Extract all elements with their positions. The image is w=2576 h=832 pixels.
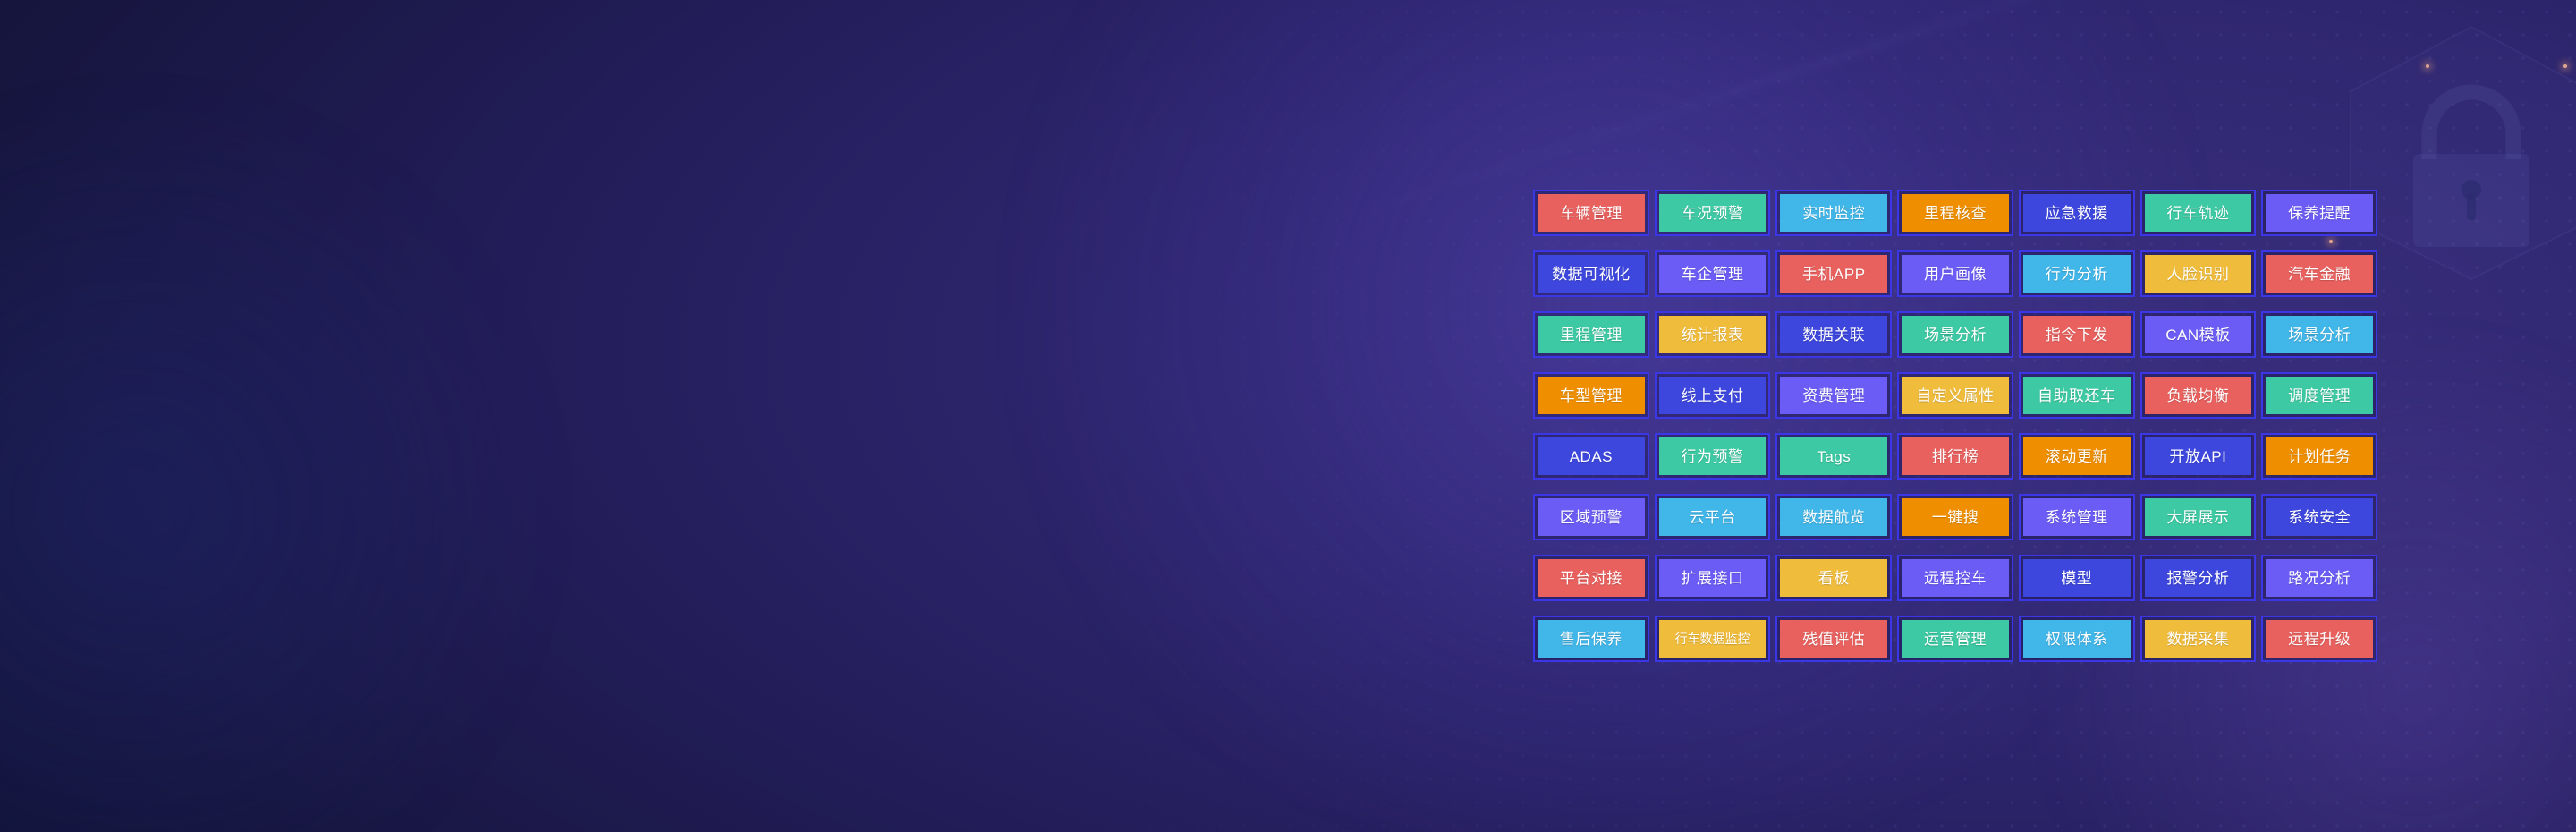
- tile-label: 运营管理: [1924, 632, 1987, 647]
- tile-fill: 运营管理: [1902, 620, 2009, 658]
- feature-tile[interactable]: 车况预警: [1655, 190, 1771, 236]
- tile-fill: 看板: [1780, 559, 1887, 597]
- feature-tile[interactable]: 平台对接: [1533, 555, 1649, 601]
- tile-label: 行车数据监控: [1675, 632, 1750, 645]
- stage: 车辆管理车况预警实时监控里程核查应急救援行车轨迹保养提醒数据可视化车企管理手机A…: [0, 0, 2576, 832]
- feature-tile[interactable]: 行为预警: [1655, 433, 1771, 480]
- tile-label: 车况预警: [1682, 206, 1744, 221]
- feature-tile[interactable]: 售后保养: [1533, 616, 1649, 662]
- tile-label: 云平台: [1689, 510, 1736, 525]
- feature-tile[interactable]: 滚动更新: [2019, 433, 2135, 480]
- tile-label: 远程升级: [2288, 632, 2351, 647]
- tile-fill: 实时监控: [1780, 194, 1887, 232]
- feature-tile[interactable]: 计划任务: [2261, 433, 2377, 480]
- feature-tile[interactable]: Tags: [1775, 433, 1892, 480]
- feature-tile[interactable]: 实时监控: [1775, 190, 1892, 236]
- feature-tile[interactable]: 开放API: [2140, 433, 2257, 480]
- tile-fill: ADAS: [1538, 437, 1645, 475]
- tile-label: CAN模板: [2165, 327, 2230, 343]
- tile-fill: 区域预警: [1538, 498, 1645, 536]
- tile-fill: 售后保养: [1538, 620, 1645, 658]
- tile-fill: 行为预警: [1659, 437, 1767, 475]
- feature-tile[interactable]: 调度管理: [2261, 372, 2377, 419]
- feature-tile[interactable]: 资费管理: [1775, 372, 1892, 419]
- tile-fill: 计划任务: [2266, 437, 2373, 475]
- tile-label: 手机APP: [1802, 267, 1866, 282]
- feature-tile[interactable]: 路况分析: [2261, 555, 2377, 601]
- tile-label: 应急救援: [2046, 206, 2108, 221]
- tile-fill: CAN模板: [2145, 316, 2252, 353]
- feature-tile[interactable]: 数据可视化: [1533, 250, 1649, 297]
- feature-tile[interactable]: 保养提醒: [2261, 190, 2377, 236]
- tile-fill: 用户画像: [1902, 255, 2009, 293]
- tile-fill: 人脸识别: [2145, 255, 2252, 293]
- tile-label: 系统管理: [2046, 510, 2108, 525]
- feature-tile[interactable]: 运营管理: [1897, 616, 2013, 662]
- feature-tile[interactable]: 行车数据监控: [1655, 616, 1771, 662]
- tile-label: ADAS: [1570, 449, 1613, 464]
- tile-fill: 车企管理: [1659, 255, 1767, 293]
- tile-fill: 数据关联: [1780, 316, 1887, 353]
- tile-fill: 系统安全: [2266, 498, 2373, 536]
- feature-tile[interactable]: 车辆管理: [1533, 190, 1649, 236]
- tile-label: 数据可视化: [1552, 267, 1631, 282]
- tile-fill: 报警分析: [2145, 559, 2252, 597]
- tile-label: 负载均衡: [2166, 388, 2229, 403]
- tile-fill: 车辆管理: [1538, 194, 1645, 232]
- tile-label: 场景分析: [2288, 327, 2351, 343]
- feature-tile[interactable]: 自定义属性: [1897, 372, 2013, 419]
- tile-fill: 一键搜: [1902, 498, 2009, 536]
- tile-label: 平台对接: [1560, 571, 1623, 586]
- tile-label: 路况分析: [2288, 571, 2351, 586]
- tile-fill: 系统管理: [2023, 498, 2131, 536]
- tile-fill: 资费管理: [1780, 377, 1887, 414]
- feature-tile[interactable]: 报警分析: [2140, 555, 2257, 601]
- tile-fill: 远程升级: [2266, 620, 2373, 658]
- tile-label: 系统安全: [2288, 510, 2351, 525]
- tile-fill: 排行榜: [1902, 437, 2009, 475]
- feature-tile[interactable]: 远程升级: [2261, 616, 2377, 662]
- feature-tile[interactable]: 大屏展示: [2140, 494, 2257, 540]
- feature-tile[interactable]: 系统安全: [2261, 494, 2377, 540]
- tile-label: 区域预警: [1560, 510, 1623, 525]
- tile-label: 汽车金融: [2288, 267, 2351, 282]
- tile-label: 行为预警: [1682, 449, 1744, 464]
- tile-label: 车辆管理: [1560, 206, 1623, 221]
- tile-label: 权限体系: [2046, 632, 2108, 647]
- feature-tile[interactable]: 车企管理: [1655, 250, 1771, 297]
- feature-tile[interactable]: 汽车金融: [2261, 250, 2377, 297]
- tile-label: 自助取还车: [2038, 388, 2116, 403]
- tile-fill: 权限体系: [2023, 620, 2131, 658]
- tile-label: 模型: [2061, 571, 2092, 586]
- tile-label: 看板: [1818, 571, 1850, 586]
- feature-tile[interactable]: 场景分析: [1897, 311, 2013, 358]
- tile-fill: 自定义属性: [1902, 377, 2009, 414]
- feature-tile[interactable]: 指令下发: [2019, 311, 2135, 358]
- feature-tile[interactable]: 统计报表: [1655, 311, 1771, 358]
- feature-tile[interactable]: 应急救援: [2019, 190, 2135, 236]
- feature-tile[interactable]: ADAS: [1533, 433, 1649, 480]
- feature-tile[interactable]: 云平台: [1655, 494, 1771, 540]
- feature-tile[interactable]: 里程管理: [1533, 311, 1649, 358]
- tile-label: 残值评估: [1802, 632, 1865, 647]
- tile-fill: 保养提醒: [2266, 194, 2373, 232]
- tile-label: 开放API: [2169, 449, 2226, 464]
- tile-label: 统计报表: [1682, 327, 1744, 343]
- tile-fill: 线上支付: [1659, 377, 1767, 414]
- tile-fill: 云平台: [1659, 498, 1767, 536]
- feature-tile[interactable]: 负载均衡: [2140, 372, 2257, 419]
- tile-label: 里程管理: [1560, 327, 1623, 343]
- tile-fill: 行车轨迹: [2145, 194, 2252, 232]
- tile-label: 场景分析: [1924, 327, 1987, 343]
- tile-label: 车型管理: [1560, 388, 1623, 403]
- tile-fill: 里程管理: [1538, 316, 1645, 353]
- tile-label: 计划任务: [2288, 449, 2351, 464]
- tile-label: 指令下发: [2046, 327, 2108, 343]
- tile-label: 车企管理: [1682, 267, 1744, 282]
- tile-label: Tags: [1817, 449, 1851, 464]
- feature-tile[interactable]: 排行榜: [1897, 433, 2013, 480]
- feature-tile[interactable]: 系统管理: [2019, 494, 2135, 540]
- feature-tile[interactable]: 自助取还车: [2019, 372, 2135, 419]
- tile-label: 人脸识别: [2166, 267, 2229, 282]
- tile-label: 保养提醒: [2288, 206, 2351, 221]
- feature-tile-grid: 车辆管理车况预警实时监控里程核查应急救援行车轨迹保养提醒数据可视化车企管理手机A…: [1533, 190, 2377, 662]
- tile-fill: 自助取还车: [2023, 377, 2131, 414]
- tile-fill: 行为分析: [2023, 255, 2131, 293]
- tile-label: 一键搜: [1932, 510, 1979, 525]
- feature-tile[interactable]: 线上支付: [1655, 372, 1771, 419]
- tile-fill: 残值评估: [1780, 620, 1887, 658]
- tile-fill: 汽车金融: [2266, 255, 2373, 293]
- feature-tile[interactable]: 区域预警: [1533, 494, 1649, 540]
- tile-fill: 场景分析: [2266, 316, 2373, 353]
- tile-label: 行车轨迹: [2166, 206, 2229, 221]
- feature-tile[interactable]: 里程核查: [1897, 190, 2013, 236]
- tile-label: 线上支付: [1682, 388, 1744, 403]
- tile-fill: 数据采集: [2145, 620, 2252, 658]
- tile-label: 报警分析: [2166, 571, 2229, 586]
- tile-fill: 应急救援: [2023, 194, 2131, 232]
- tile-label: 实时监控: [1802, 206, 1865, 221]
- tile-fill: 大屏展示: [2145, 498, 2252, 536]
- tile-fill: 数据航览: [1780, 498, 1887, 536]
- tile-fill: 指令下发: [2023, 316, 2131, 353]
- feature-tile[interactable]: 人脸识别: [2140, 250, 2257, 297]
- tile-fill: 调度管理: [2266, 377, 2373, 414]
- feature-tile[interactable]: 车型管理: [1533, 372, 1649, 419]
- tile-fill: 负载均衡: [2145, 377, 2252, 414]
- feature-tile[interactable]: 用户画像: [1897, 250, 2013, 297]
- tile-label: 售后保养: [1560, 632, 1623, 647]
- tile-label: 用户画像: [1924, 267, 1987, 282]
- tile-fill: 路况分析: [2266, 559, 2373, 597]
- feature-tile[interactable]: 场景分析: [2261, 311, 2377, 358]
- tile-fill: 远程控车: [1902, 559, 2009, 597]
- feature-tile[interactable]: 行车轨迹: [2140, 190, 2257, 236]
- tile-label: 排行榜: [1932, 449, 1979, 464]
- tile-fill: 车型管理: [1538, 377, 1645, 414]
- tile-fill: Tags: [1780, 437, 1887, 475]
- feature-tile[interactable]: 残值评估: [1775, 616, 1892, 662]
- feature-tile[interactable]: 手机APP: [1775, 250, 1892, 297]
- feature-tile[interactable]: 数据采集: [2140, 616, 2257, 662]
- tile-label: 调度管理: [2288, 388, 2351, 403]
- tile-label: 大屏展示: [2166, 510, 2229, 525]
- tile-label: 里程核查: [1924, 206, 1987, 221]
- feature-tile[interactable]: 权限体系: [2019, 616, 2135, 662]
- tile-label: 数据关联: [1802, 327, 1865, 343]
- tile-label: 滚动更新: [2046, 449, 2108, 464]
- tile-label: 远程控车: [1924, 571, 1987, 586]
- tile-fill: 扩展接口: [1659, 559, 1767, 597]
- tile-label: 自定义属性: [1916, 388, 1995, 403]
- tile-fill: 数据可视化: [1538, 255, 1645, 293]
- tile-fill: 平台对接: [1538, 559, 1645, 597]
- tile-fill: 开放API: [2145, 437, 2252, 475]
- tile-fill: 行车数据监控: [1659, 620, 1767, 658]
- feature-tile[interactable]: CAN模板: [2140, 311, 2257, 358]
- feature-tile[interactable]: 看板: [1775, 555, 1892, 601]
- tile-label: 行为分析: [2046, 267, 2108, 282]
- tile-label: 数据采集: [2166, 632, 2229, 647]
- feature-tile[interactable]: 一键搜: [1897, 494, 2013, 540]
- tile-label: 数据航览: [1802, 510, 1865, 525]
- tile-fill: 里程核查: [1902, 194, 2009, 232]
- tile-fill: 模型: [2023, 559, 2131, 597]
- tile-fill: 手机APP: [1780, 255, 1887, 293]
- tile-fill: 车况预警: [1659, 194, 1767, 232]
- feature-tile[interactable]: 行为分析: [2019, 250, 2135, 297]
- feature-tile[interactable]: 数据航览: [1775, 494, 1892, 540]
- feature-tile[interactable]: 模型: [2019, 555, 2135, 601]
- feature-tile[interactable]: 扩展接口: [1655, 555, 1771, 601]
- tile-fill: 滚动更新: [2023, 437, 2131, 475]
- tile-fill: 场景分析: [1902, 316, 2009, 353]
- tile-label: 扩展接口: [1682, 571, 1744, 586]
- feature-tile[interactable]: 远程控车: [1897, 555, 2013, 601]
- feature-tile[interactable]: 数据关联: [1775, 311, 1892, 358]
- tile-label: 资费管理: [1802, 388, 1865, 403]
- tile-fill: 统计报表: [1659, 316, 1767, 353]
